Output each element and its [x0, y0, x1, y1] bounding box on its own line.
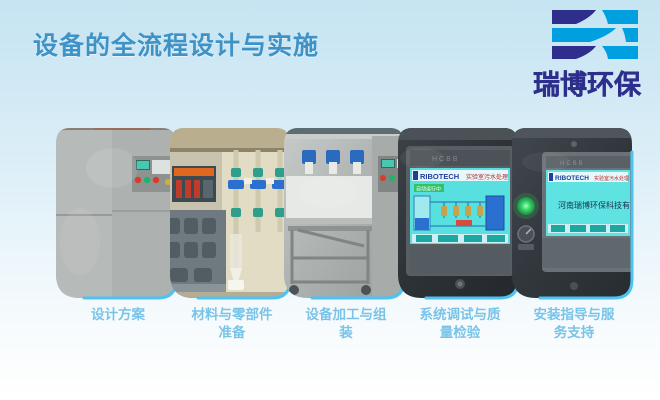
hmi-scada-panel-photo: HCBB RIBOTECH 实验室污水处理 自动运行中 [398, 122, 522, 304]
card-photo-clip: HCBB RIBOTECH 实验室污水处理 自动运行中 [398, 122, 522, 304]
card-label-line: 安装指导与服 [504, 306, 644, 324]
svg-text:实验室污水处理: 实验室污水处理 [466, 173, 508, 181]
slide-canvas: 设备的全流程设计与实施 瑞博环保 [0, 0, 660, 400]
stainless-steel-cabinet-photo [56, 122, 180, 304]
process-card-3[interactable]: 设备加工与组 装 [284, 122, 408, 304]
page-title: 设备的全流程设计与实施 [33, 26, 319, 62]
svg-text:RIBOTECH: RIBOTECH [555, 175, 589, 182]
logo-wordmark: 瑞博环保 [523, 63, 651, 102]
company-logo: 瑞博环保 [523, 8, 651, 104]
process-card-4[interactable]: HCBB RIBOTECH 实验室污水处理 自动运行中 [398, 122, 522, 304]
process-card-row: 设计方案 [0, 122, 660, 322]
card-photo-clip [170, 122, 294, 304]
card-label-5: 安装指导与服 务支持 [504, 306, 644, 342]
card-photo-clip: HCBB RIBOTECH 实验室污水处理 河南瑞博环保科技有 [512, 122, 636, 304]
logo-mark-icon [550, 8, 640, 61]
svg-text:河南瑞博环保科技有: 河南瑞博环保科技有 [558, 200, 630, 210]
control-panel-with-indicator-photo: HCBB RIBOTECH 实验室污水处理 河南瑞博环保科技有 [512, 122, 636, 304]
card-photo-clip [56, 122, 180, 304]
pipes-and-valves-photo [170, 122, 294, 304]
process-card-1[interactable]: 设计方案 [56, 122, 180, 304]
card-label-line: 务支持 [504, 324, 644, 342]
card-photo-clip [284, 122, 408, 304]
dosing-pump-assembly-photo [284, 122, 408, 304]
process-card-5[interactable]: HCBB RIBOTECH 实验室污水处理 河南瑞博环保科技有 [512, 122, 636, 304]
svg-text:实验室污水处理: 实验室污水处理 [594, 175, 629, 182]
svg-text:自动运行中: 自动运行中 [416, 186, 441, 193]
process-card-2[interactable]: 材料与零部件 准备 [170, 122, 294, 304]
svg-text:RIBOTECH: RIBOTECH [420, 172, 459, 181]
